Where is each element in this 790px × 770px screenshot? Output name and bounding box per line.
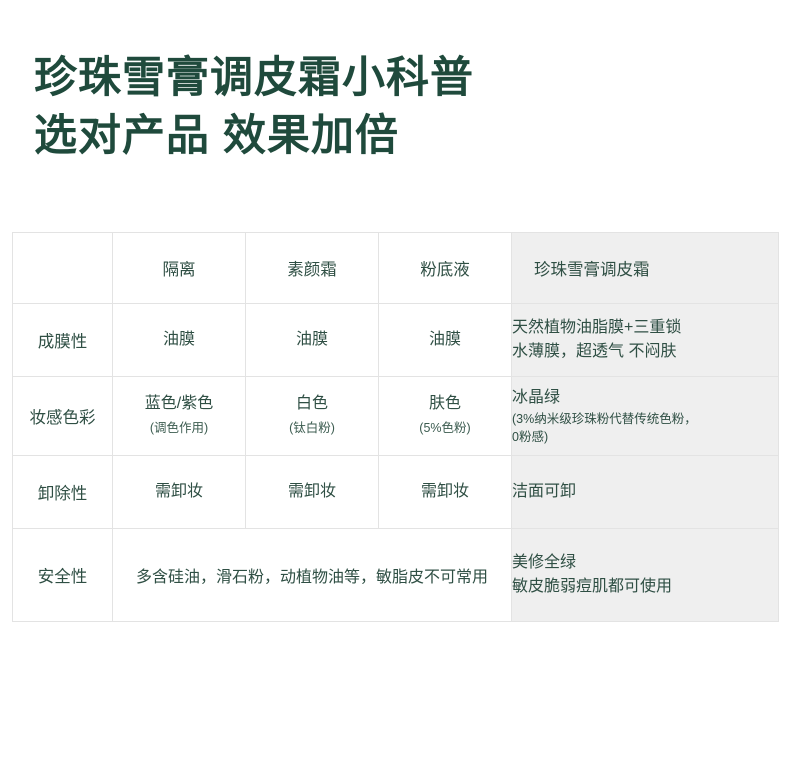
cell-color-nude-cream: 白色 (钛白粉) [246, 377, 379, 456]
header-cell-isolation: 隔离 [113, 233, 246, 304]
cell-color-pearl-sub-2: 0粉感) [512, 429, 778, 446]
cell-color-foundation-sub: (5%色粉) [379, 417, 511, 439]
row-label-removal: 卸除性 [13, 456, 113, 529]
table-header: 隔离 素颜霜 粉底液 珍珠雪膏调皮霜 [13, 233, 779, 304]
table-row: 安全性 多含硅油，滑石粉，动植物油等，敏脂皮不可常用 美修全绿 敏皮脆弱痘肌都可… [13, 529, 779, 622]
cell-color-isolation-main: 蓝色/紫色 [113, 393, 245, 415]
cell-color-isolation-sub: (调色作用) [113, 417, 245, 439]
headline-line-1: 珍珠雪膏调皮霜小科普 [34, 52, 754, 104]
cell-removal-nude-cream: 需卸妆 [246, 456, 379, 529]
cell-film-pearl-line-2: 水薄膜，超透气 不闷肤 [512, 340, 778, 364]
headline-block: 珍珠雪膏调皮霜小科普 选对产品 效果加倍 [34, 52, 754, 162]
header-cell-blank [13, 233, 113, 304]
cell-film-isolation: 油膜 [113, 304, 246, 377]
cell-color-pearl-cream: 冰晶绿 (3%纳米级珍珠粉代替传统色粉， 0粉感) [512, 377, 779, 456]
header-cell-pearl-cream: 珍珠雪膏调皮霜 [512, 233, 779, 304]
page-root: 珍珠雪膏调皮霜小科普 选对产品 效果加倍 隔离 素颜霜 粉底液 珍珠雪膏调皮霜 … [0, 0, 790, 770]
cell-film-pearl-line-1: 天然植物油脂膜+三重锁 [512, 316, 778, 340]
comparison-table: 隔离 素颜霜 粉底液 珍珠雪膏调皮霜 成膜性 油膜 油膜 油膜 天然植物油脂膜+… [12, 232, 779, 622]
table-row: 卸除性 需卸妆 需卸妆 需卸妆 洁面可卸 [13, 456, 779, 529]
cell-removal-isolation: 需卸妆 [113, 456, 246, 529]
cell-color-nude-main: 白色 [246, 393, 378, 415]
cell-removal-foundation: 需卸妆 [379, 456, 512, 529]
cell-color-foundation-main: 肤色 [379, 393, 511, 415]
header-cell-foundation: 粉底液 [379, 233, 512, 304]
row-label-color: 妆感色彩 [13, 377, 113, 456]
cell-film-pearl-cream: 天然植物油脂膜+三重锁 水薄膜，超透气 不闷肤 [512, 304, 779, 377]
row-label-safety: 安全性 [13, 529, 113, 622]
table-header-row: 隔离 素颜霜 粉底液 珍珠雪膏调皮霜 [13, 233, 779, 304]
cell-color-pearl-main: 冰晶绿 [512, 386, 778, 410]
cell-removal-pearl-cream: 洁面可卸 [512, 456, 779, 529]
cell-color-nude-sub: (钛白粉) [246, 417, 378, 439]
comparison-table-wrap: 隔离 素颜霜 粉底液 珍珠雪膏调皮霜 成膜性 油膜 油膜 油膜 天然植物油脂膜+… [12, 232, 778, 622]
cell-safety-others: 多含硅油，滑石粉，动植物油等，敏脂皮不可常用 [113, 529, 512, 622]
cell-safety-pearl-line-2: 敏皮脆弱痘肌都可使用 [512, 575, 778, 599]
row-label-film: 成膜性 [13, 304, 113, 377]
cell-color-isolation: 蓝色/紫色 (调色作用) [113, 377, 246, 456]
table-row: 妆感色彩 蓝色/紫色 (调色作用) 白色 (钛白粉) 肤色 (5%色粉) 冰晶 [13, 377, 779, 456]
cell-color-foundation: 肤色 (5%色粉) [379, 377, 512, 456]
table-body: 成膜性 油膜 油膜 油膜 天然植物油脂膜+三重锁 水薄膜，超透气 不闷肤 妆感色… [13, 304, 779, 622]
headline-line-2: 选对产品 效果加倍 [34, 110, 754, 162]
cell-safety-pearl-cream: 美修全绿 敏皮脆弱痘肌都可使用 [512, 529, 779, 622]
cell-color-pearl-sub-1: (3%纳米级珍珠粉代替传统色粉， [512, 411, 778, 428]
cell-safety-pearl-line-1: 美修全绿 [512, 551, 778, 575]
header-cell-nude-cream: 素颜霜 [246, 233, 379, 304]
table-row: 成膜性 油膜 油膜 油膜 天然植物油脂膜+三重锁 水薄膜，超透气 不闷肤 [13, 304, 779, 377]
cell-film-nude-cream: 油膜 [246, 304, 379, 377]
cell-film-foundation: 油膜 [379, 304, 512, 377]
